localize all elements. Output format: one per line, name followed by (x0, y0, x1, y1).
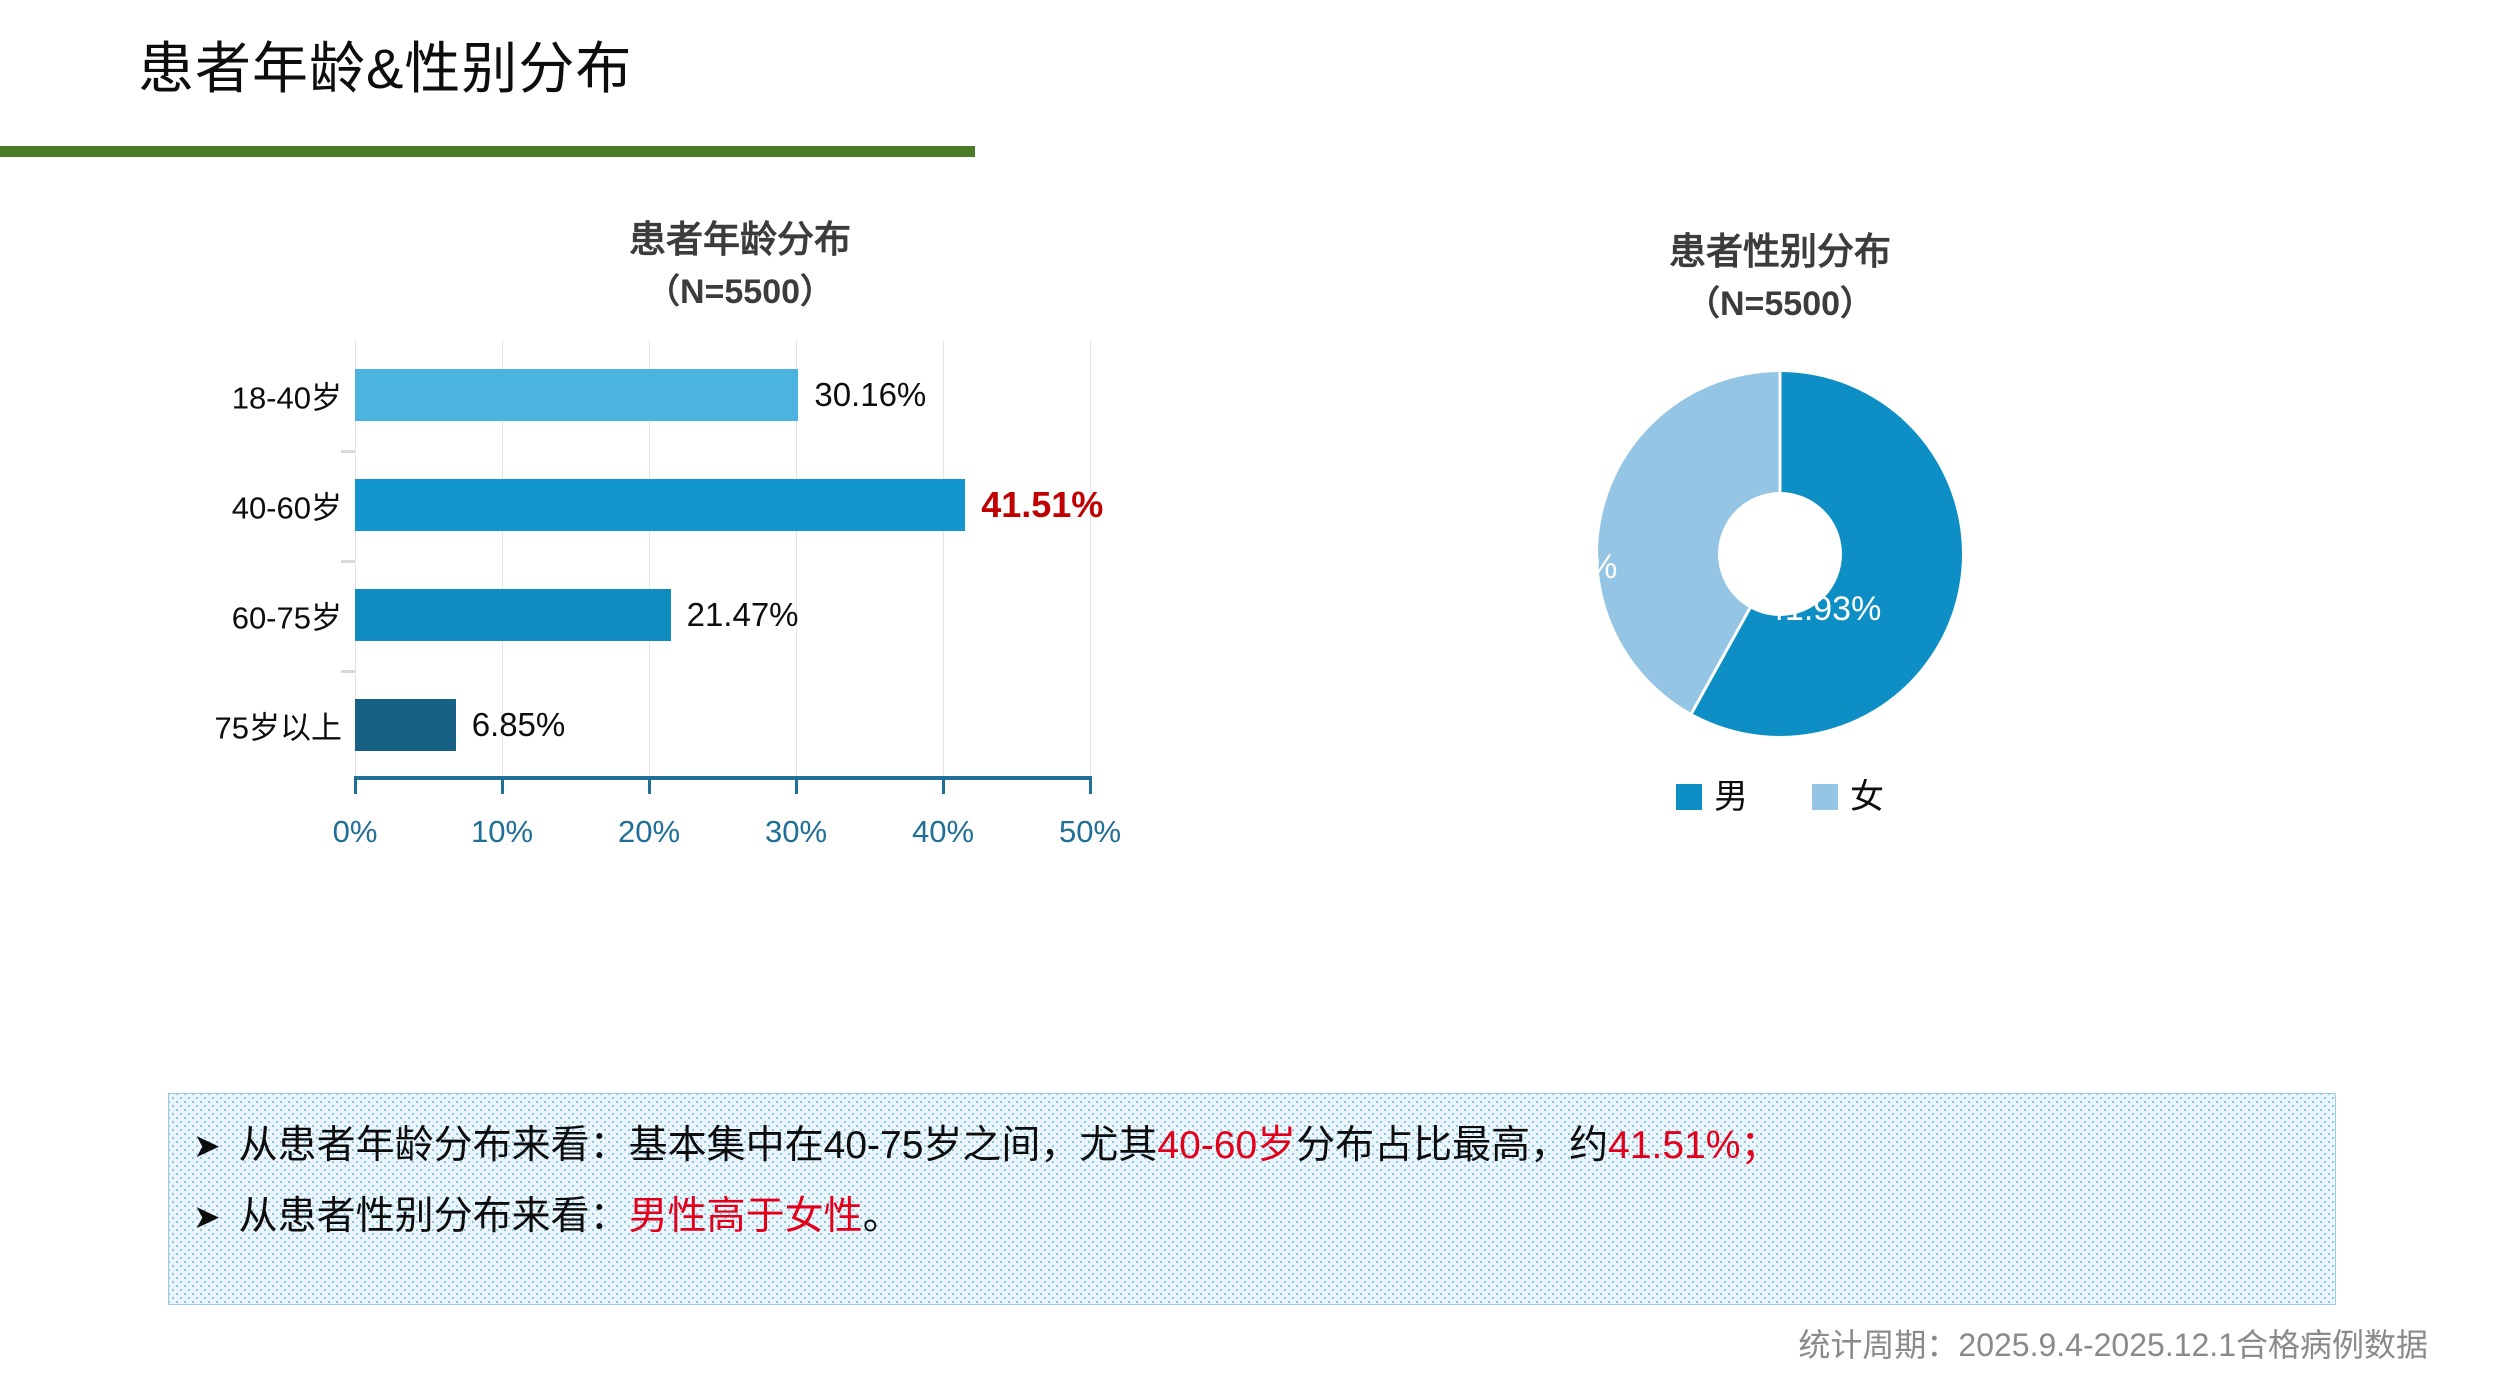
y-axis-tick (341, 560, 355, 563)
bar-value-label: 21.47% (687, 596, 799, 634)
bar-chart-title: 患者年龄分布 (150, 218, 1330, 262)
insight-age-highlight-pct: 41.51%； (1608, 1124, 1779, 1167)
bar-40-60岁[interactable] (355, 479, 965, 531)
x-axis-tick (795, 776, 798, 794)
legend-label-male: 男 (1714, 780, 1748, 814)
y-axis-category-label: 40-60岁 (232, 483, 342, 528)
statistics-period-footnote: 统计周期：2025.9.4-2025.12.1合格病例数据 (1798, 1320, 2428, 1366)
donut-legend: 男 女 (1420, 780, 2140, 814)
bar-value-label: 6.85% (472, 706, 566, 744)
x-axis-tick (1089, 776, 1092, 794)
y-axis-category-label: 60-75岁 (232, 593, 342, 638)
insight-age-text: 从患者年龄分布来看：基本集中在40-75岁之间，尤其40-60岁分布占比最高，约… (239, 1118, 1780, 1173)
gender-distribution-chart: 患者性别分布 （N=5500） 58.07% 41.93% 男 女 (1420, 230, 2140, 990)
insight-gender-post: 。 (863, 1195, 902, 1238)
legend-item-male[interactable]: 男 (1676, 780, 1748, 814)
x-axis-tick-label: 10% (471, 814, 533, 850)
bar-value-label: 30.16% (814, 376, 926, 414)
y-axis-tick (341, 670, 355, 673)
bar-value-label: 41.51% (981, 484, 1103, 526)
insight-gender-pre: 从患者性别分布来看： (239, 1195, 629, 1238)
legend-swatch-male-icon (1676, 784, 1702, 810)
insight-age-pre: 从患者年龄分布来看：基本集中在40-75岁之间，尤其 (239, 1124, 1158, 1167)
y-axis-tick (341, 450, 355, 453)
donut-chart-title: 患者性别分布 (1420, 230, 2140, 274)
donut-slice-label-male: 58.07% (1502, 548, 1617, 587)
gridline (1090, 340, 1091, 780)
insight-gender-highlight: 男性高于女性 (629, 1195, 863, 1238)
gridline (943, 340, 944, 780)
x-axis-tick (942, 776, 945, 794)
x-axis-tick-label: 40% (912, 814, 974, 850)
page-title: 患者年龄&性别分布 (138, 24, 632, 105)
insight-bullet-gender: ➤ 从患者性别分布来看：男性高于女性。 (193, 1189, 2305, 1244)
insight-age-mid: 分布占比最高，约 (1296, 1124, 1608, 1167)
legend-swatch-female-icon (1812, 784, 1838, 810)
insight-age-highlight-range: 40-60岁 (1157, 1124, 1296, 1167)
bullet-arrow-icon: ➤ (193, 1118, 221, 1173)
y-axis-category-label: 18-40岁 (232, 373, 342, 418)
bullet-arrow-icon: ➤ (193, 1189, 221, 1244)
slide-root: 患者年龄&性别分布 患者年龄分布 （N=5500） 0%10%20%30%40%… (0, 0, 2506, 1394)
x-axis-tick (501, 776, 504, 794)
y-axis-category-label: 75岁以上 (215, 703, 342, 748)
bar-18-40岁[interactable] (355, 369, 798, 421)
age-distribution-chart: 患者年龄分布 （N=5500） 0%10%20%30%40%50%18-40岁3… (150, 200, 1330, 1030)
x-axis-tick-label: 50% (1059, 814, 1121, 850)
x-axis-tick (354, 776, 357, 794)
insights-callout-box: ➤ 从患者年龄分布来看：基本集中在40-75岁之间，尤其40-60岁分布占比最高… (168, 1093, 2336, 1305)
bar-60-75岁[interactable] (355, 589, 671, 641)
x-axis-line (355, 776, 1090, 780)
x-axis-tick-label: 30% (765, 814, 827, 850)
bar-75岁以上[interactable] (355, 699, 456, 751)
donut-ring (1598, 372, 1962, 736)
bar-chart-subtitle: （N=5500） (150, 264, 1330, 313)
donut-slice-label-female: 41.93% (1766, 590, 1881, 629)
x-axis-tick-label: 0% (333, 814, 378, 850)
x-axis-tick (648, 776, 651, 794)
legend-label-female: 女 (1850, 780, 1884, 814)
insight-gender-text: 从患者性别分布来看：男性高于女性。 (239, 1189, 902, 1244)
bar-plot-area: 0%10%20%30%40%50%18-40岁30.16%40-60岁41.51… (355, 340, 1090, 780)
donut-chart-subtitle: （N=5500） (1420, 276, 2140, 325)
insight-bullet-age: ➤ 从患者年龄分布来看：基本集中在40-75岁之间，尤其40-60岁分布占比最高… (193, 1118, 2305, 1173)
x-axis-tick-label: 20% (618, 814, 680, 850)
title-underline-rule (0, 146, 975, 157)
legend-item-female[interactable]: 女 (1812, 780, 1884, 814)
